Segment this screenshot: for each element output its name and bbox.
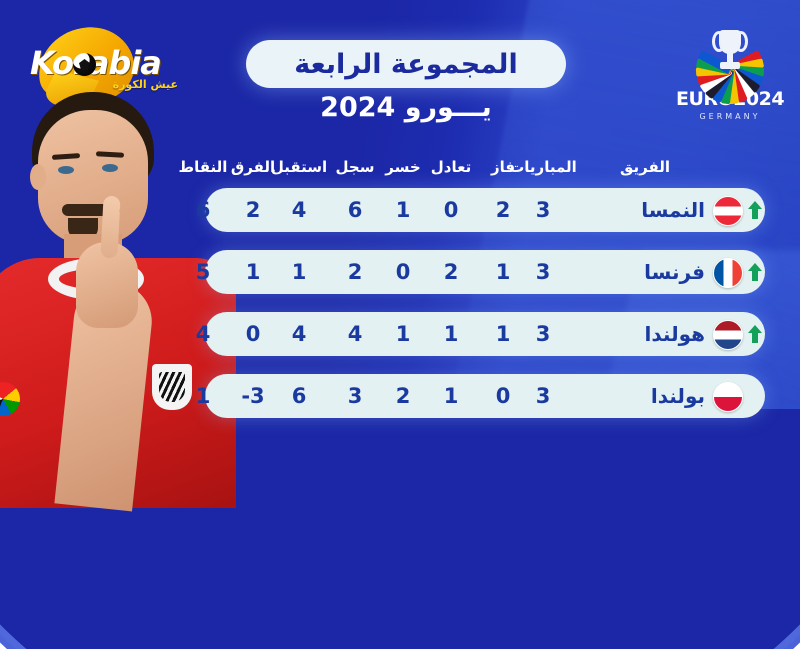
player-finger-shh (100, 196, 120, 259)
korabia-logo[interactable]: Korabia عيش الكورة (14, 22, 184, 100)
cell-lost: 0 (379, 250, 427, 294)
austria-flag (713, 196, 743, 226)
cell-won: 0 (482, 374, 524, 418)
cell-lost: 1 (379, 188, 427, 232)
cell-drawn: 0 (423, 188, 479, 232)
cell-points: 5 (175, 250, 231, 294)
promotion-arrow-up-icon (747, 200, 763, 220)
cell-scored: 4 (332, 312, 378, 356)
player-eye-right (102, 164, 118, 172)
trophy-icon (717, 26, 743, 72)
france-flag (713, 258, 743, 288)
column-header-won: فاز (482, 158, 524, 176)
cell-scored: 6 (332, 188, 378, 232)
column-header-drawn: تعادل (423, 158, 479, 176)
standings-table: الفريقالمبارياتفازتعادلخسرسجلاستقبلالفرق… (205, 158, 765, 436)
cell-won: 1 (482, 312, 524, 356)
promotion-arrow-up-icon (747, 324, 763, 344)
cell-scored: 2 (332, 250, 378, 294)
page-subtitle: يـــورو 2024 (246, 92, 566, 123)
page-title-pill: المجموعة الرابعة (246, 40, 566, 88)
promotion-arrow-up-icon (747, 262, 763, 282)
euro-2024-logo: UEFA EURO2024 GERMANY (676, 18, 784, 122)
cell-conceded: 4 (269, 312, 329, 356)
cell-diff: 1 (228, 250, 278, 294)
cell-points: 4 (175, 312, 231, 356)
logo-wordmark: Korabia (30, 44, 190, 82)
football-icon (73, 53, 96, 76)
cell-won: 1 (482, 250, 524, 294)
cell-diff: 2 (228, 188, 278, 232)
cell-conceded: 1 (269, 250, 329, 294)
euro-logo-arc (689, 18, 771, 80)
poland-flag (713, 382, 743, 412)
cell-drawn: 2 (423, 250, 479, 294)
table-row[interactable]: بولندا3012363-1 (205, 374, 765, 418)
column-header-lost: خسر (379, 158, 427, 176)
player-ear (30, 164, 46, 190)
cell-conceded: 4 (269, 188, 329, 232)
netherlands-flag (713, 320, 743, 350)
team-name: هولندا (645, 312, 706, 356)
page-title: المجموعة الرابعة (294, 49, 517, 80)
cell-points: 1 (175, 374, 231, 418)
cell-won: 2 (482, 188, 524, 232)
cell-lost: 1 (379, 312, 427, 356)
table-row[interactable]: فرنسا31202115 (205, 250, 765, 294)
trophy-base (720, 62, 740, 69)
table-row[interactable]: هولندا31114404 (205, 312, 765, 356)
table-row[interactable]: النمسا32016426 (205, 188, 765, 232)
column-header-diff: الفرق (228, 158, 278, 176)
player-eye-left (58, 166, 74, 174)
infographic-canvas: Korabia عيش الكورة UEFA EURO2024 GERMANY… (0, 0, 800, 649)
cell-points: 6 (175, 188, 231, 232)
logo-subtitle: عيش الكورة (113, 78, 178, 91)
host-country-label: GERMANY (676, 112, 784, 121)
column-header-conceded: استقبل (269, 158, 329, 176)
cell-scored: 3 (332, 374, 378, 418)
team-name: النمسا (641, 188, 705, 232)
cell-drawn: 1 (423, 374, 479, 418)
column-header-points: النقاط (175, 158, 231, 176)
table-body: النمسا32016426فرنسا31202115هولندا3111440… (205, 188, 765, 418)
cell-lost: 2 (379, 374, 427, 418)
column-header-scored: سجل (332, 158, 378, 176)
cell-diff: 0 (228, 312, 278, 356)
team-name: بولندا (651, 374, 705, 418)
column-header-team: الفريق (590, 158, 700, 176)
table-header-row: الفريقالمبارياتفازتعادلخسرسجلاستقبلالفرق… (205, 158, 765, 188)
cell-conceded: 6 (269, 374, 329, 418)
cell-drawn: 1 (423, 312, 479, 356)
team-name: فرنسا (644, 250, 705, 294)
trophy-cup (719, 30, 741, 54)
cell-diff: 3- (228, 374, 278, 418)
